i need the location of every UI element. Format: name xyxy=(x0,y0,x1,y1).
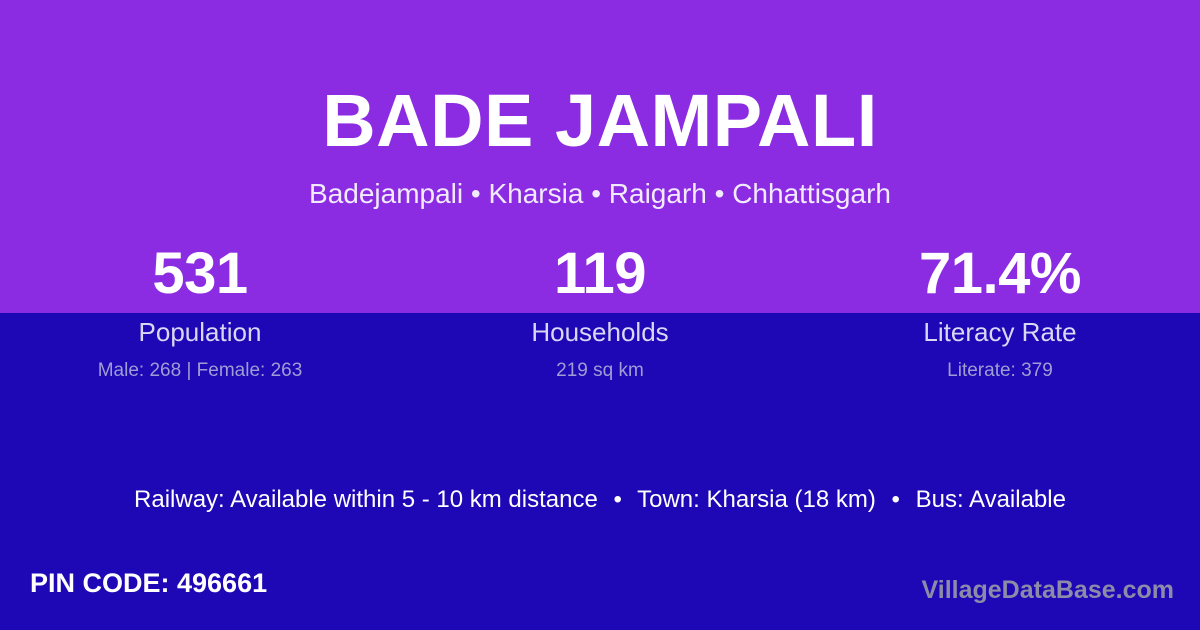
site-watermark: VillageDataBase.com xyxy=(922,575,1174,605)
stat-label-households: Households xyxy=(400,308,800,350)
stat-label-population: Population xyxy=(0,308,400,350)
page-title: BADE JAMPALI xyxy=(0,0,1200,158)
pin-code: PIN CODE: 496661 xyxy=(30,567,267,599)
breadcrumb: Badejampali • Kharsia • Raigarh • Chhatt… xyxy=(0,158,1200,208)
amenity-town: Town: Kharsia (18 km) xyxy=(637,486,876,513)
amenity-railway: Railway: Available within 5 - 10 km dist… xyxy=(134,486,598,513)
stat-sub-population: Male: 268 | Female: 263 xyxy=(0,350,400,384)
stat-value-literacy-rate: 71.4% xyxy=(800,240,1200,308)
village-info-card: BADE JAMPALI Badejampali • Kharsia • Rai… xyxy=(0,0,1200,630)
amenity-separator-icon: • xyxy=(604,485,630,515)
title-block: BADE JAMPALI Badejampali • Kharsia • Rai… xyxy=(0,0,1200,208)
stat-value-population: 531 xyxy=(0,240,400,308)
stat-sub-literacy-rate: Literate: 379 xyxy=(800,350,1200,384)
stat-sub-households: 219 sq km xyxy=(400,350,800,384)
stat-literacy-rate: 71.4% Literacy Rate Literate: 379 xyxy=(800,240,1200,384)
stats-row: 531 Population Male: 268 | Female: 263 1… xyxy=(0,240,1200,384)
footer: PIN CODE: 496661 VillageDataBase.com xyxy=(0,555,1200,630)
stat-value-households: 119 xyxy=(400,240,800,308)
stat-households: 119 Households 219 sq km xyxy=(400,240,800,384)
stat-population: 531 Population Male: 268 | Female: 263 xyxy=(0,240,400,384)
stat-label-literacy-rate: Literacy Rate xyxy=(800,308,1200,350)
amenities-line: Railway: Available within 5 - 10 km dist… xyxy=(0,485,1200,515)
amenity-bus: Bus: Available xyxy=(916,486,1066,513)
amenity-separator-icon: • xyxy=(883,485,909,515)
